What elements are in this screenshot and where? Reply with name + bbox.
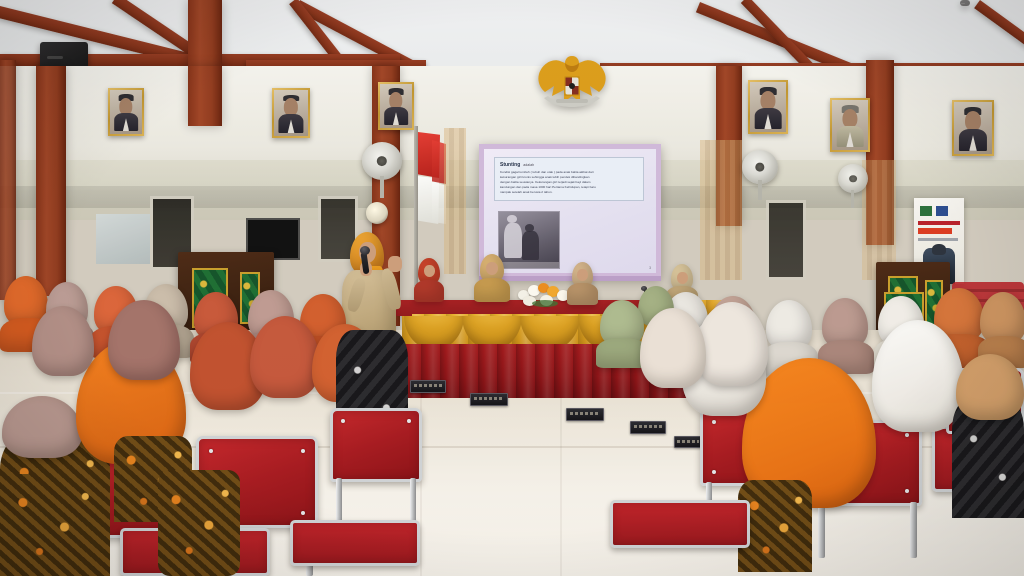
garuda-icon — [534, 52, 610, 114]
flower-arrangement — [516, 282, 572, 306]
speaker-icon — [960, 0, 970, 6]
slide-body-line: kandungan dan pada masa 1000 hari Pertam… — [500, 186, 638, 189]
portrait-frame — [748, 80, 788, 134]
hand — [388, 256, 402, 272]
nameplate — [674, 436, 702, 448]
face — [424, 265, 435, 277]
seminar-hall-photo: Stunting adalah Kondisi gagal tumbuh ( t… — [0, 0, 1024, 576]
fan-mount — [851, 190, 854, 208]
slide-body-line: Kondisi gagal tumbuh ( tubuh dan otak ) … — [500, 171, 638, 174]
nameplate — [630, 421, 666, 434]
batik-garment — [158, 470, 240, 576]
nameplate — [566, 408, 604, 421]
panelist — [472, 254, 512, 302]
panelist — [412, 258, 446, 302]
portrait-frame — [108, 88, 144, 136]
window-pane — [96, 214, 150, 264]
chair[interactable] — [330, 408, 422, 482]
fan-mount — [380, 176, 384, 198]
slide-body-line: dengan balita seusianya. Kekurangan gizi… — [500, 181, 638, 184]
slide-page-number: 3 — [649, 266, 651, 270]
portrait-frame — [272, 88, 310, 138]
face — [677, 272, 688, 284]
slide-subtitle: adalah — [523, 163, 534, 167]
audience-member — [978, 292, 1024, 362]
doorway[interactable] — [766, 200, 806, 280]
chair-leg — [410, 478, 416, 522]
torso — [414, 280, 444, 302]
hall-column — [188, 66, 222, 126]
window-curtain — [444, 128, 466, 274]
batik-garment — [0, 474, 104, 576]
chair-leg — [336, 478, 342, 522]
fan-mount — [758, 180, 762, 200]
floor-tile-line — [560, 392, 562, 576]
portrait-frame — [378, 82, 414, 130]
face — [486, 262, 498, 275]
spot-light — [366, 202, 388, 224]
panelist — [566, 262, 600, 304]
face — [577, 269, 588, 281]
window-curtain — [700, 140, 742, 280]
torso — [474, 278, 510, 302]
portrait-frame — [952, 100, 994, 156]
nameplate — [470, 393, 508, 406]
fan-icon — [362, 142, 402, 180]
fan-icon — [742, 150, 778, 184]
torso — [567, 283, 598, 305]
chair-seat[interactable] — [610, 500, 750, 548]
slide-title: Stunting — [500, 162, 520, 168]
hall-column — [36, 66, 66, 296]
nameplate — [410, 380, 446, 393]
slide-body-line: nampak setelah anak berusia 2 tahun. — [500, 191, 638, 194]
slide-text-box: Stunting adalah Kondisi gagal tumbuh ( t… — [494, 157, 644, 201]
hall-column — [0, 60, 16, 300]
portrait-frame — [830, 98, 870, 152]
chair-seat[interactable] — [290, 520, 420, 566]
slide-body-line: kekurangan gizi kronis sehingga anak leb… — [500, 176, 638, 179]
chair-leg — [910, 502, 917, 558]
fan-icon — [838, 164, 868, 193]
ceiling-column — [188, 0, 222, 66]
microphone-icon — [360, 246, 370, 255]
